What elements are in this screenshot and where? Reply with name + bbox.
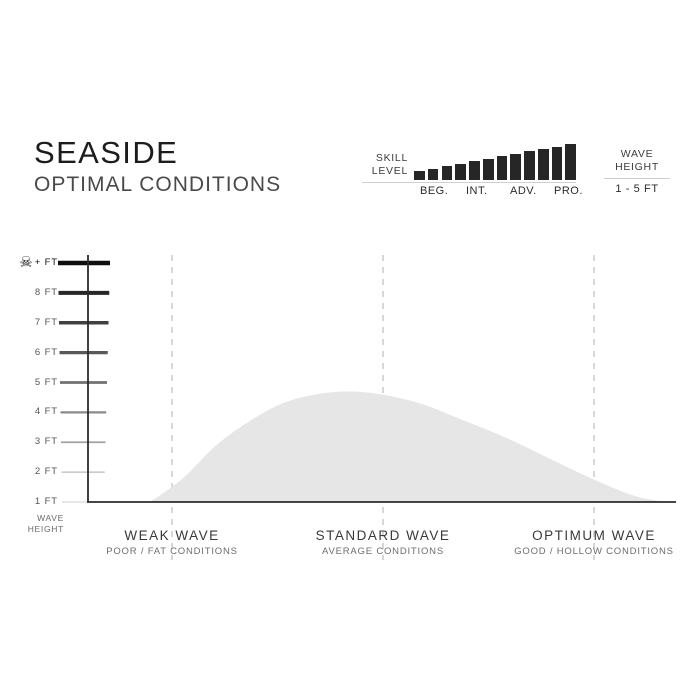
chart-area-series bbox=[150, 391, 668, 502]
wave-quality-curve bbox=[150, 391, 668, 502]
x-axis-category: WEAK WAVEPOOR / FAT CONDITIONS bbox=[62, 528, 282, 558]
y-axis-label: 8 FT bbox=[2, 287, 58, 298]
y-axis-label: 6 FT bbox=[2, 347, 58, 358]
wave-height-chart: ☠+ FT8 FT7 FT6 FT5 FT4 FT3 FT2 FT1 FT WA… bbox=[0, 0, 700, 700]
y-axis-label: 7 FT bbox=[2, 317, 58, 328]
x-axis-category-subtitle: AVERAGE CONDITIONS bbox=[273, 545, 493, 558]
y-axis-label: 1 FT bbox=[2, 496, 58, 507]
chart-y-ticks bbox=[58, 263, 110, 502]
x-axis-category: STANDARD WAVEAVERAGE CONDITIONS bbox=[273, 528, 493, 558]
skull-icon: ☠ bbox=[19, 258, 33, 268]
y-axis-label: 2 FT bbox=[2, 466, 58, 477]
y-axis-label-text: + FT bbox=[35, 257, 58, 268]
x-axis-category-subtitle: POOR / FAT CONDITIONS bbox=[62, 545, 282, 558]
y-axis-caption-line1: WAVE bbox=[8, 513, 64, 524]
x-axis-category-title: WEAK WAVE bbox=[62, 528, 282, 544]
x-axis-category-title: OPTIMUM WAVE bbox=[484, 528, 700, 544]
x-axis-category-subtitle: GOOD / HOLLOW CONDITIONS bbox=[484, 545, 700, 558]
y-axis-label: 5 FT bbox=[2, 377, 58, 388]
y-axis-caption: WAVE HEIGHT bbox=[8, 513, 64, 534]
chart-canvas bbox=[0, 0, 700, 700]
y-axis-label: ☠+ FT bbox=[2, 257, 58, 268]
y-axis-caption-line2: HEIGHT bbox=[8, 524, 64, 535]
x-axis-category-title: STANDARD WAVE bbox=[273, 528, 493, 544]
surf-conditions-infographic: SEASIDE OPTIMAL CONDITIONS SKILL LEVEL B… bbox=[0, 0, 700, 700]
y-axis-label: 4 FT bbox=[2, 406, 58, 417]
x-axis-category: OPTIMUM WAVEGOOD / HOLLOW CONDITIONS bbox=[484, 528, 700, 558]
y-axis-label: 3 FT bbox=[2, 436, 58, 447]
